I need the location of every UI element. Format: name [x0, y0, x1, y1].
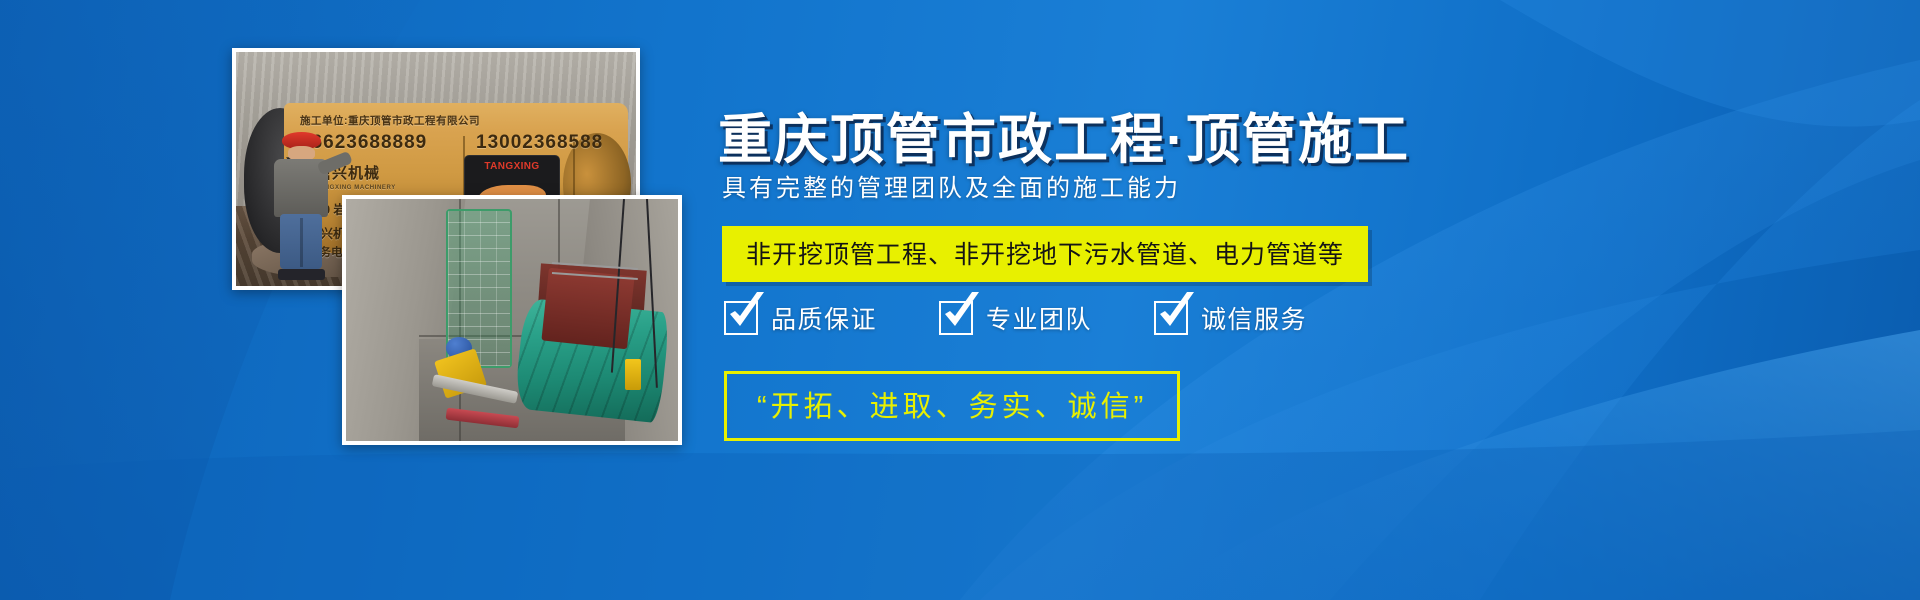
- machine-phone-right: 13002368588: [476, 132, 603, 154]
- page-subtitle: 具有完整的管理团队及全面的施工能力: [722, 168, 1181, 203]
- feature-list: 品质保证 专业团队 诚信服务: [724, 300, 1307, 336]
- slogan-box: “开拓、进取、务实、诚信”: [724, 371, 1180, 441]
- machine-company-text: 施工单位:重庆顶管市政工程有限公司: [300, 113, 480, 128]
- check-icon: [724, 301, 758, 335]
- worker-jeans: [280, 214, 322, 269]
- tagline-text: 非开挖顶管工程、非开挖地下污水管道、电力管道等: [746, 241, 1344, 269]
- worker-shoes: [278, 269, 325, 279]
- banner-text-column: 重庆顶管市政工程·顶管施工 具有完整的管理团队及全面的施工能力 非开挖顶管工程、…: [718, 0, 1868, 600]
- check-icon-glyph: [724, 290, 768, 334]
- photo-2-content: [346, 199, 678, 441]
- feature-item-quality[interactable]: 品质保证: [724, 300, 877, 336]
- feature-label: 品质保证: [771, 300, 877, 336]
- hero-banner: 施工单位:重庆顶管市政工程有限公司 16623688889 1300236858…: [0, 0, 1920, 600]
- feature-label: 专业团队: [986, 300, 1092, 336]
- yellow-lifting-hook: [625, 359, 642, 390]
- construction-pit-photo[interactable]: [342, 195, 682, 445]
- check-icon: [1154, 301, 1188, 335]
- feature-label: 诚信服务: [1201, 300, 1307, 336]
- feature-item-service[interactable]: 诚信服务: [1154, 300, 1307, 336]
- machine-rear-plate: [542, 267, 635, 348]
- check-icon-glyph: [1154, 290, 1198, 334]
- check-icon-glyph: [939, 290, 983, 334]
- feature-item-team[interactable]: 专业团队: [939, 300, 1092, 336]
- badge-brand-name: TANGXING: [465, 161, 559, 172]
- page-title: 重庆顶管市政工程·顶管施工: [718, 95, 1410, 174]
- tagline-highlight-bar: 非开挖顶管工程、非开挖地下污水管道、电力管道等: [722, 226, 1368, 282]
- slogan-text: “开拓、进取、务实、诚信”: [757, 391, 1147, 423]
- worker-figure: [272, 132, 332, 277]
- check-icon: [939, 301, 973, 335]
